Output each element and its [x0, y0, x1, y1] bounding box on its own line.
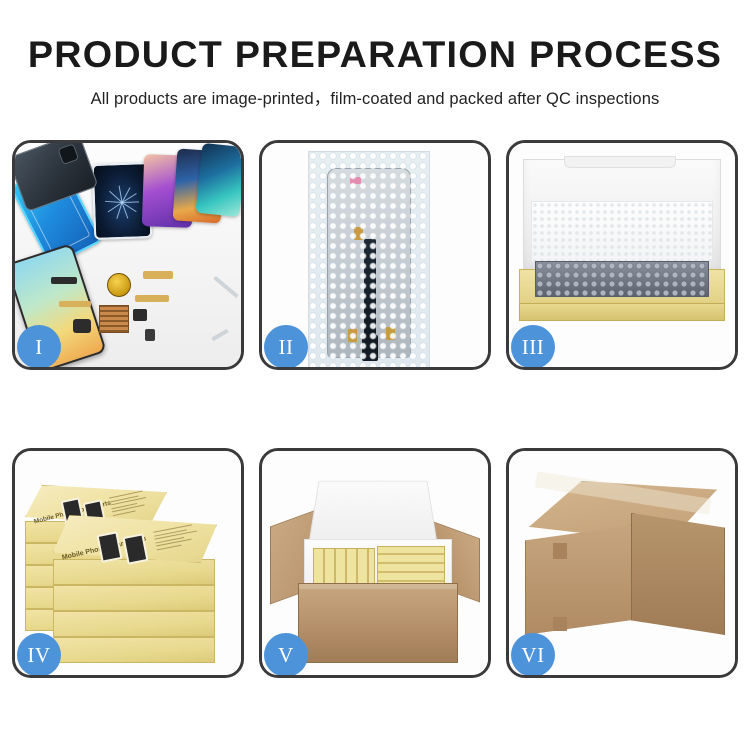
- screen-crack-pattern: [102, 183, 141, 222]
- step-card-5[interactable]: V: [259, 448, 491, 678]
- chip-array-part: [99, 305, 129, 333]
- step-panel-2: II: [259, 140, 491, 370]
- step-card-6[interactable]: VI: [506, 448, 738, 678]
- step-image-6: VI: [509, 451, 735, 675]
- lcd-screen-inside: [327, 168, 411, 358]
- step-image-1: I: [15, 143, 241, 367]
- step-panel-4: Mobile Phone Spare Parts Mobile Phone Sp…: [12, 448, 244, 678]
- phone-teal: [195, 143, 241, 217]
- yellow-boxes-left-ridges: [313, 548, 375, 588]
- step-panel-3: III: [506, 140, 738, 370]
- carton-tab-upper: [553, 543, 567, 559]
- step-card-4[interactable]: Mobile Phone Spare Parts Mobile Phone Sp…: [12, 448, 244, 678]
- box-front-wall: [519, 303, 725, 321]
- white-foam-sheet: [531, 201, 713, 263]
- bubble-wrap-sleeve: [308, 151, 430, 367]
- step-panel-5: V: [259, 448, 491, 678]
- box-stack-front-4: [53, 637, 215, 663]
- step-image-3: III: [509, 143, 735, 367]
- step-badge-3: III: [511, 325, 555, 367]
- pink-qc-label: [350, 177, 361, 184]
- screen-flex-cable: [364, 239, 376, 357]
- carton-front-face: [525, 525, 635, 635]
- step-panel-1: I: [12, 140, 244, 370]
- step-badge-4: IV: [17, 633, 61, 675]
- infographic-page: PRODUCT PREPARATION PROCESS All products…: [0, 0, 750, 750]
- step-badge-1: I: [17, 325, 61, 367]
- step-panel-6: VI: [506, 448, 738, 678]
- box-stack-front-2: [53, 585, 215, 611]
- header: PRODUCT PREPARATION PROCESS All products…: [0, 0, 750, 109]
- step-image-4: Mobile Phone Spare Parts Mobile Phone Sp…: [15, 451, 241, 675]
- step-card-1[interactable]: I: [12, 140, 244, 370]
- carton-side-face: [631, 513, 725, 635]
- foam-lid-open: [309, 481, 438, 543]
- step-image-5: V: [262, 451, 488, 675]
- carton-body: [298, 583, 458, 663]
- step-badge-2: II: [264, 325, 308, 367]
- gold-connector-top: [354, 227, 363, 240]
- gray-bubble-wrap-fill: [535, 261, 709, 297]
- gold-connector-right: [386, 327, 395, 340]
- step-badge-5: V: [264, 633, 308, 675]
- step-card-3[interactable]: III: [506, 140, 738, 370]
- page-subtitle: All products are image-printed，film-coat…: [0, 85, 750, 109]
- wireless-coil-part: [107, 273, 131, 297]
- taptic-part: [73, 319, 91, 333]
- step-badge-6: VI: [511, 633, 555, 675]
- steps-grid: I: [12, 140, 738, 688]
- speaker-part: [51, 277, 77, 284]
- step-card-2[interactable]: II: [259, 140, 491, 370]
- camera-module-part: [145, 329, 155, 341]
- flex-cable-part-1: [143, 271, 173, 279]
- ic-chip-part: [133, 309, 147, 321]
- gold-connector-left: [348, 329, 357, 342]
- flex-cable-part-3: [59, 301, 91, 307]
- box-stack-front-3: [53, 611, 215, 637]
- flex-cable-part-2: [135, 295, 169, 302]
- page-title: PRODUCT PREPARATION PROCESS: [0, 34, 750, 76]
- carton-tab-lower: [553, 617, 567, 631]
- step-image-2: II: [262, 143, 488, 367]
